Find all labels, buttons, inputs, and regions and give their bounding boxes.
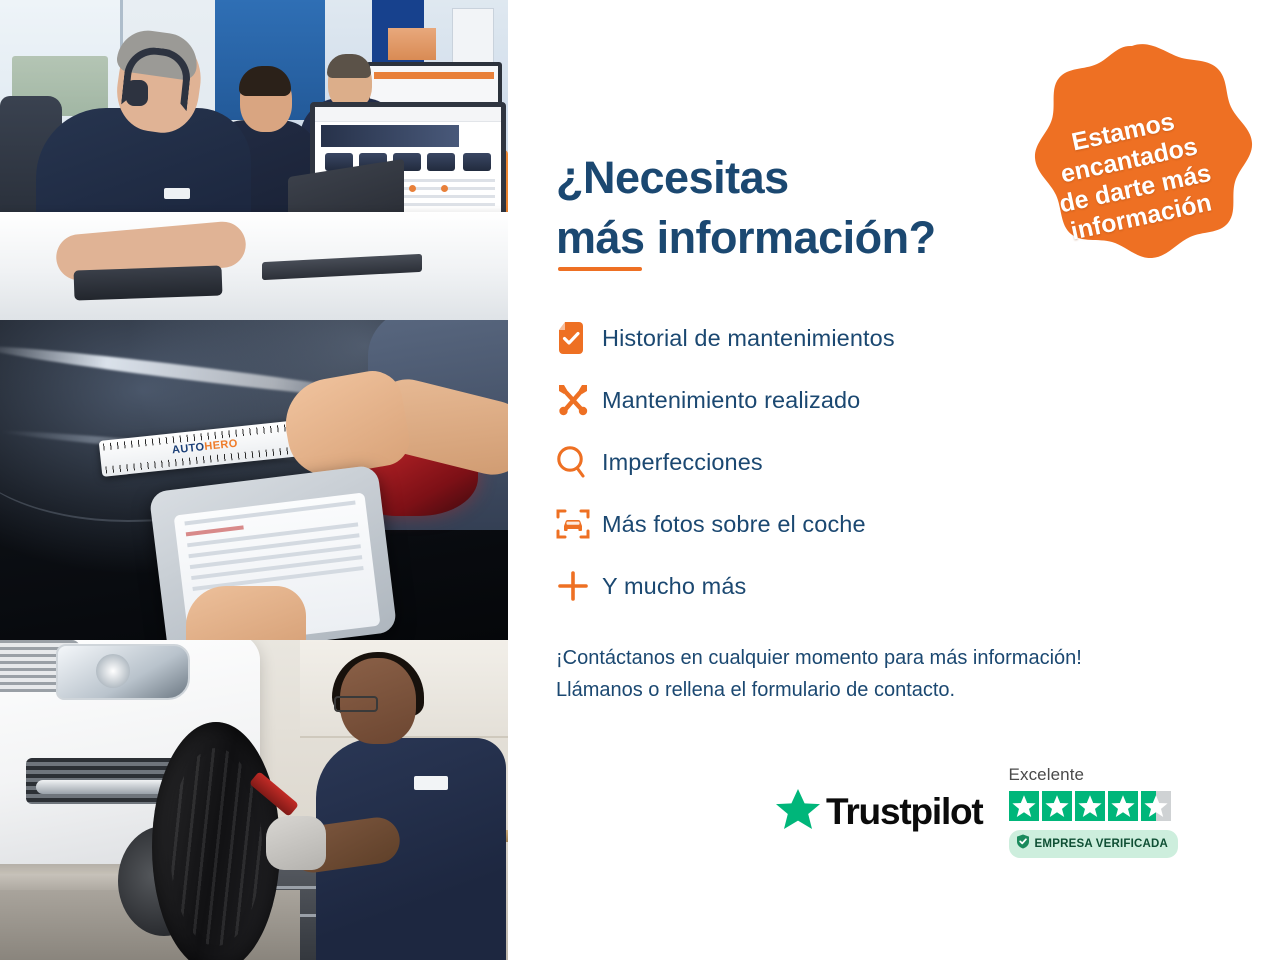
badge-text: Estamos encantados de darte más informac…: [1017, 96, 1247, 254]
verified-company-badge: EMPRESA VERIFICADA: [1009, 830, 1179, 858]
title-underline-rule: [558, 267, 642, 271]
car-frame-icon: [556, 508, 602, 540]
trustpilot-wordmark: Trustpilot: [826, 791, 983, 833]
feature-item-maintenance-done: Mantenimiento realizado: [556, 369, 1156, 431]
contact-line1: ¡Contáctanos en cualquier momento para m…: [556, 642, 1236, 674]
info-badge: Estamos encantados de darte más informac…: [1004, 40, 1260, 308]
feature-label: Más fotos sobre el coche: [602, 511, 866, 538]
verified-company-label: EMPRESA VERIFICADA: [1035, 838, 1169, 850]
feature-label: Imperfecciones: [602, 449, 763, 476]
trustpilot-star-icon: [776, 788, 820, 835]
feature-label: Y mucho más: [602, 573, 746, 600]
page-title-line2: más información?: [556, 212, 936, 263]
trustpilot-logo: Trustpilot: [776, 788, 983, 835]
wrench-screwdriver-icon: [556, 383, 602, 417]
feature-item-much-more: Y mucho más: [556, 555, 1156, 617]
star-filled: [1009, 791, 1039, 821]
call-center-agents-photo: [0, 0, 508, 320]
page-title-line1: ¿Necesitas: [556, 152, 789, 203]
page-title: ¿Necesitas más información?: [556, 148, 986, 267]
star-filled: [1075, 791, 1105, 821]
car-inspection-ruler-photo: AUTOHERO: [0, 320, 508, 640]
content-panel: ¿Necesitas más información?: [508, 0, 1280, 960]
promo-page: AUTOHERO: [0, 0, 1280, 960]
star-half: [1141, 791, 1171, 821]
feature-item-maintenance-history: Historial de mantenimientos: [556, 307, 1156, 369]
contact-line2: Llámanos o rellena el formulario de cont…: [556, 674, 1236, 706]
trustpilot-block: Trustpilot Excelente: [776, 765, 1206, 858]
feature-item-imperfections: Imperfecciones: [556, 431, 1156, 493]
feature-item-more-photos: Más fotos sobre el coche: [556, 493, 1156, 555]
photo-column: AUTOHERO: [0, 0, 508, 960]
trustpilot-star-rating: [1009, 791, 1179, 821]
feature-label: Mantenimiento realizado: [602, 387, 860, 414]
trustpilot-rating-label: Excelente: [1009, 765, 1179, 785]
star-filled: [1108, 791, 1138, 821]
contact-text: ¡Contáctanos en cualquier momento para m…: [556, 642, 1236, 707]
feature-list: Historial de mantenimientos M: [556, 307, 1156, 617]
star-filled: [1042, 791, 1072, 821]
mechanic-wheel-service-photo: [0, 640, 508, 960]
magnifier-icon: [556, 445, 602, 479]
shield-check-icon: [1016, 834, 1030, 854]
feature-label: Historial de mantenimientos: [602, 325, 895, 352]
document-check-icon: [556, 321, 602, 355]
plus-icon: [556, 569, 602, 603]
